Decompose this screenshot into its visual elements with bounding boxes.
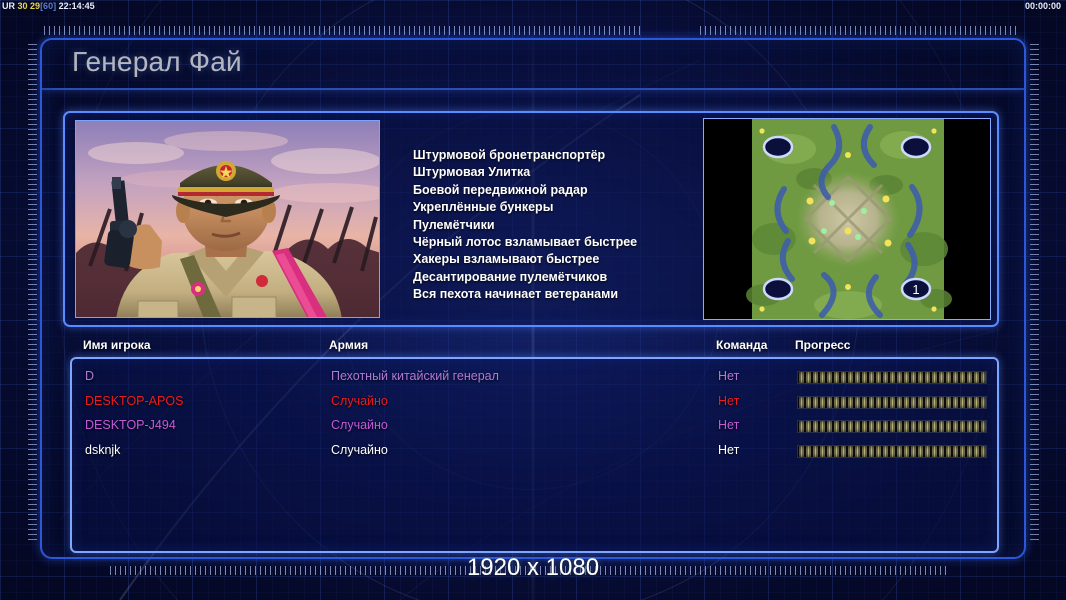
ability-item: Штурмовой бронетранспортёр [413, 147, 713, 164]
ability-item: Чёрный лотос взламывает быстрее [413, 234, 713, 251]
minimap: 1 [703, 118, 991, 320]
player-name: dsknjk [85, 443, 120, 457]
player-team: Нет [718, 369, 739, 383]
fps-prefix: UR [2, 1, 15, 11]
fps-value-2: 29 [30, 1, 40, 11]
fps-readout: UR 30 29[60] 22:14:45 [2, 0, 95, 13]
general-portrait-image [76, 121, 380, 318]
progress-bar-fill [798, 421, 986, 432]
ruler-tick-strip-left [28, 44, 37, 544]
table-row: DESKTOP-APOSСлучайноНет [72, 391, 997, 416]
player-name: DESKTOP-APOS [85, 394, 183, 408]
progress-bar-fill [798, 446, 986, 457]
column-header-army: Армия [329, 338, 368, 352]
ability-item: Укреплённые бункеры [413, 199, 713, 216]
player-name: D [85, 369, 94, 383]
column-header-team: Команда [716, 338, 767, 352]
player-army: Случайно [331, 394, 388, 408]
table-row: DПехотный китайский генералНет [72, 366, 997, 391]
progress-bar-fill [798, 372, 986, 383]
column-header-player-name: Имя игрока [83, 338, 151, 352]
player-army: Случайно [331, 443, 388, 457]
ruler-tick-strip-right [1030, 44, 1039, 544]
progress-bar [797, 420, 987, 433]
player-team: Нет [718, 418, 739, 432]
player-team: Нет [718, 394, 739, 408]
player-table: DПехотный китайский генералНетDESKTOP-AP… [70, 357, 999, 553]
table-row: DESKTOP-J494СлучайноНет [72, 415, 997, 440]
fps-bracket: [60] [40, 1, 56, 11]
ability-item: Боевой передвижной радар [413, 182, 713, 199]
ruler-tick-strip-top-right [700, 26, 1020, 35]
ability-item: Штурмовая Улитка [413, 164, 713, 181]
debug-topbar: UR 30 29[60] 22:14:45 00:00:00 [0, 0, 1066, 13]
game-clock: 00:00:00 [1025, 0, 1061, 13]
general-abilities-list: Штурмовой бронетранспортёрШтурмовая Улит… [413, 147, 713, 304]
progress-bar [797, 396, 987, 409]
table-row: dsknjkСлучайноНет [72, 440, 997, 465]
resolution-label: 1920 x 1080 [0, 554, 1066, 582]
ability-item: Хакеры взламывают быстрее [413, 251, 713, 268]
progress-bar-fill [798, 397, 986, 408]
progress-bar [797, 371, 987, 384]
general-info-panel: Штурмовой бронетранспортёрШтурмовая Улит… [63, 111, 999, 327]
fps-value: 30 [18, 1, 28, 11]
ability-item: Десантирование пулемётчиков [413, 269, 713, 286]
ruler-tick-strip-top [44, 26, 644, 35]
player-army: Пехотный китайский генерал [331, 369, 499, 383]
player-team: Нет [718, 443, 739, 457]
ability-item: Пулемётчики [413, 217, 713, 234]
minimap-image: 1 [704, 119, 991, 320]
general-portrait [75, 120, 380, 318]
progress-bar [797, 445, 987, 458]
ability-item: Вся пехота начинает ветеранами [413, 286, 713, 303]
game-loading-screen: UR 30 29[60] 22:14:45 00:00:00 Генерал Ф… [0, 0, 1066, 600]
minimap-start-marker-label: 1 [912, 282, 919, 297]
session-time: 22:14:45 [59, 1, 95, 11]
column-header-progress: Прогресс [795, 338, 850, 352]
player-army: Случайно [331, 418, 388, 432]
player-table-headers: Имя игрока Армия Команда Прогресс [63, 338, 999, 356]
player-name: DESKTOP-J494 [85, 418, 176, 432]
